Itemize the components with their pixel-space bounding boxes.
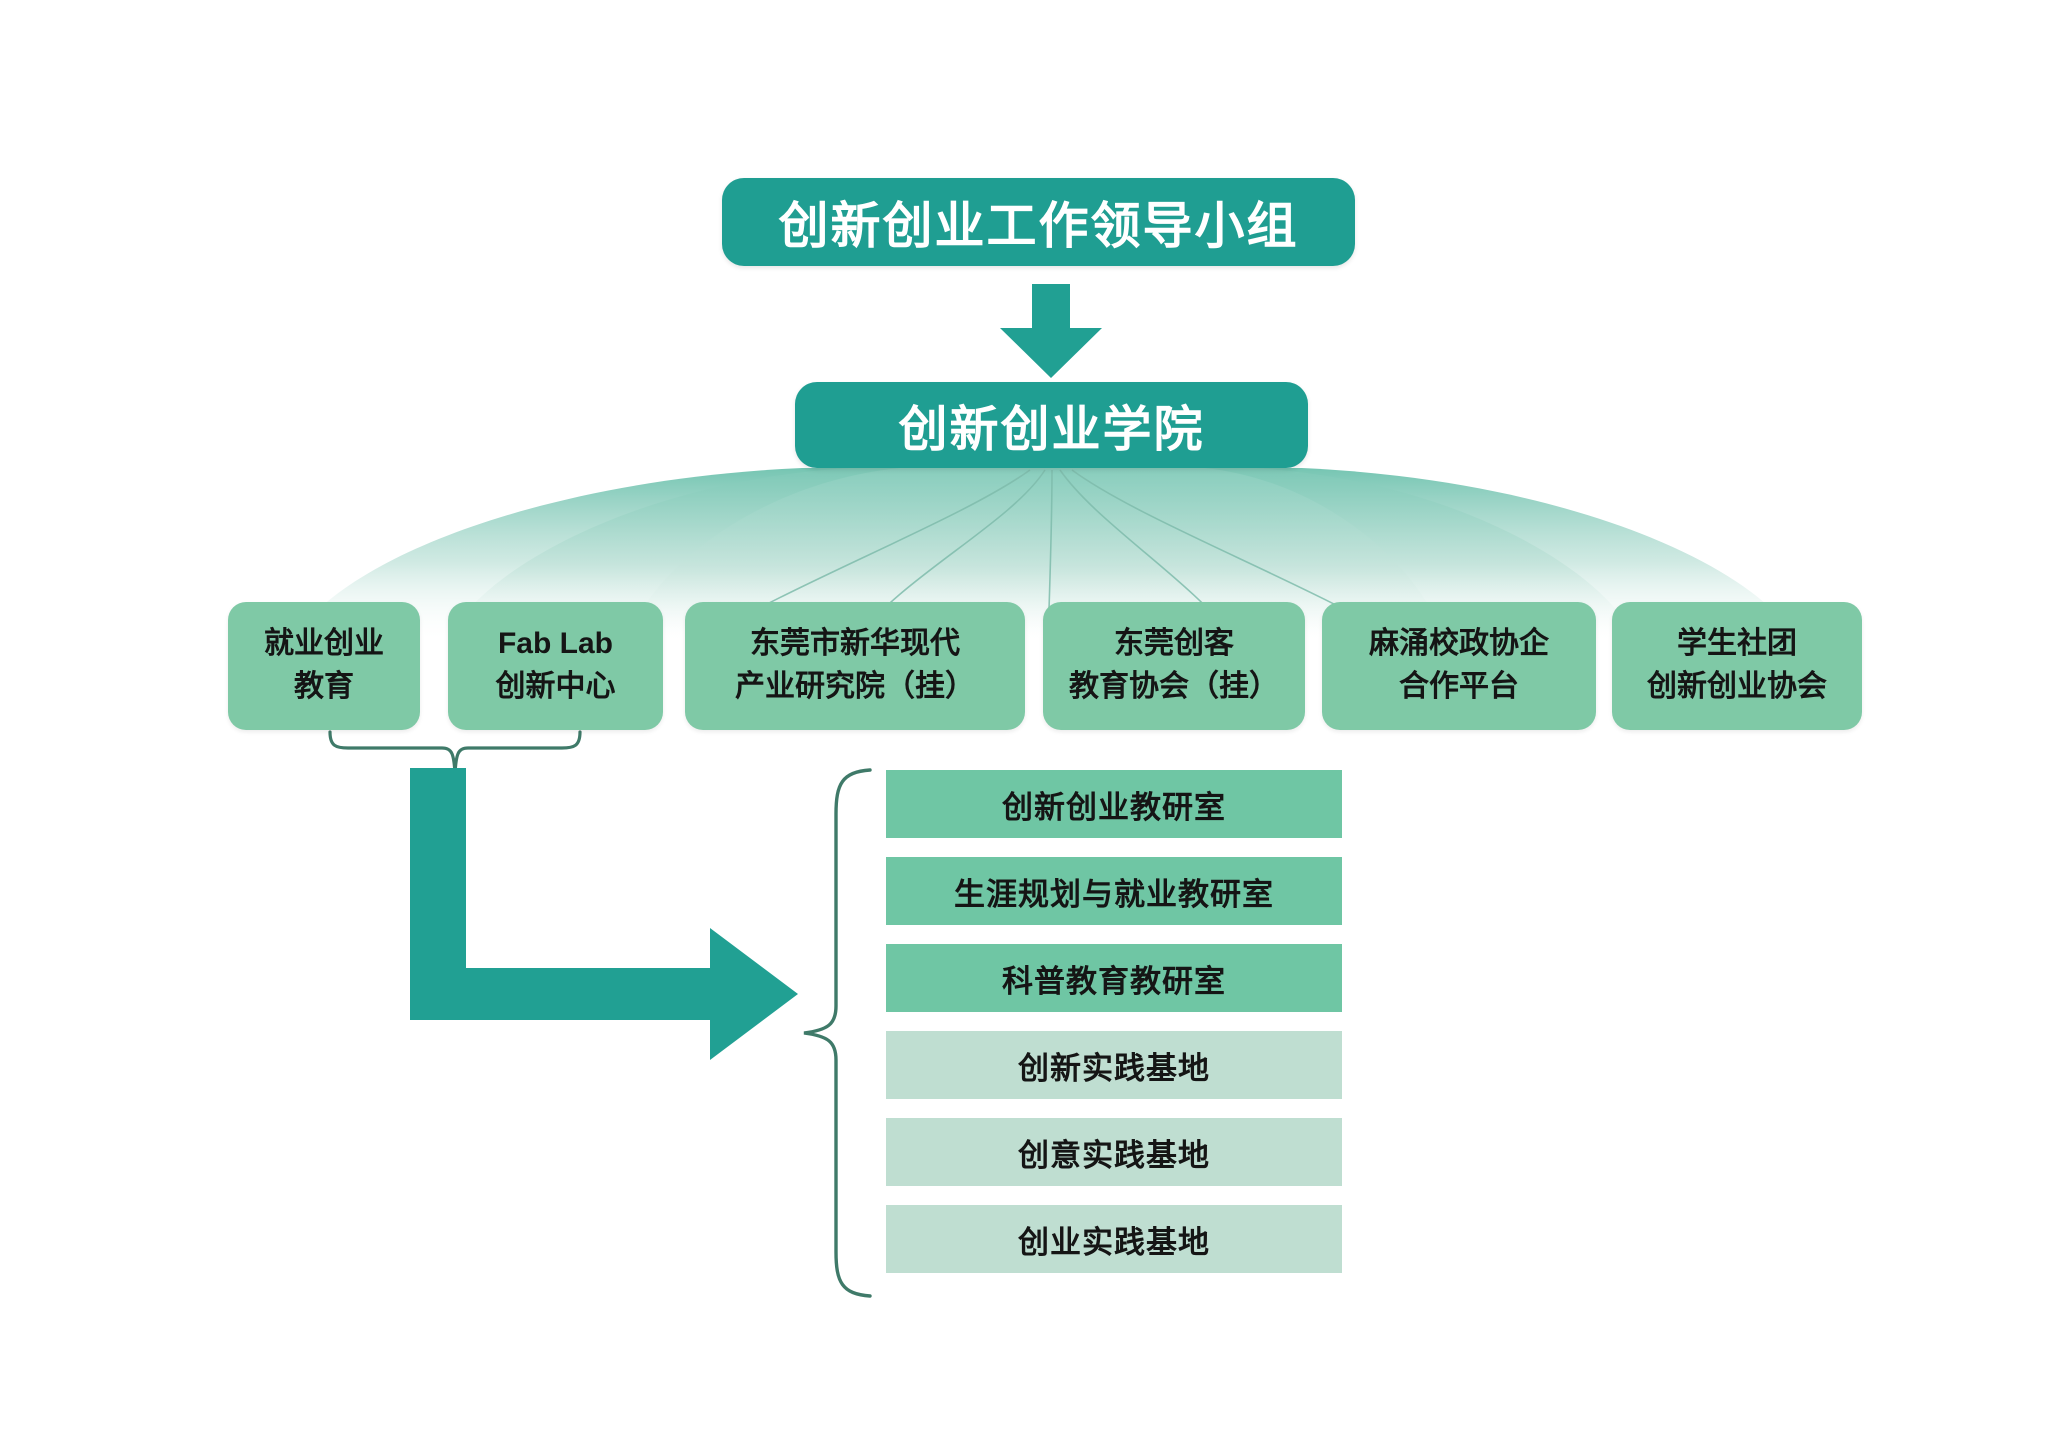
department-box-6[interactable]: 学生社团 创新创业协会 xyxy=(1612,602,1862,730)
department-box-5[interactable]: 麻涌校政协企 合作平台 xyxy=(1322,602,1596,730)
department-line: 东莞市新华现代 xyxy=(750,623,960,666)
department-line: Fab Lab xyxy=(498,623,613,666)
department-box-4[interactable]: 东莞创客 教育协会（挂） xyxy=(1043,602,1305,730)
department-box-3[interactable]: 东莞市新华现代 产业研究院（挂） xyxy=(685,602,1025,730)
unit-label: 科普教育教研室 xyxy=(1002,956,1226,1001)
unit-item[interactable]: 创新创业教研室 xyxy=(886,770,1342,838)
leader-group-label: 创新创业工作领导小组 xyxy=(779,186,1299,258)
department-line: 产业研究院（挂） xyxy=(735,666,975,709)
unit-label: 生涯规划与就业教研室 xyxy=(954,869,1274,914)
institute-label: 创新创业学院 xyxy=(898,390,1204,461)
unit-item[interactable]: 创业实践基地 xyxy=(886,1205,1342,1273)
department-line: 创新创业协会 xyxy=(1647,666,1827,709)
department-line: 学生社团 xyxy=(1677,623,1797,666)
department-box-1[interactable]: 就业创业 教育 xyxy=(228,602,420,730)
department-line: 合作平台 xyxy=(1399,666,1519,709)
unit-item[interactable]: 科普教育教研室 xyxy=(886,944,1342,1012)
department-row: 就业创业 教育 Fab Lab 创新中心 东莞市新华现代 产业研究院（挂） 东莞… xyxy=(0,602,2048,730)
department-line: 麻涌校政协企 xyxy=(1369,623,1549,666)
department-line: 就业创业 xyxy=(264,623,384,666)
unit-item[interactable]: 创新实践基地 xyxy=(886,1031,1342,1099)
unit-item[interactable]: 创意实践基地 xyxy=(886,1118,1342,1186)
department-line: 创新中心 xyxy=(496,666,616,709)
department-line: 东莞创客 xyxy=(1114,623,1234,666)
unit-label: 创意实践基地 xyxy=(1018,1130,1210,1175)
down-arrow-icon xyxy=(996,284,1106,380)
org-chart: 创新创业工作领导小组 创新创业学院 就业创业 教育 Fab Lab 创新中心 东… xyxy=(0,0,2048,1448)
curly-brace-icon xyxy=(800,768,874,1298)
unit-label: 创新实践基地 xyxy=(1018,1043,1210,1088)
unit-label: 创新创业教研室 xyxy=(1002,782,1226,827)
department-box-2[interactable]: Fab Lab 创新中心 xyxy=(448,602,663,730)
elbow-arrow-icon xyxy=(410,768,800,1078)
unit-label: 创业实践基地 xyxy=(1018,1217,1210,1262)
unit-list: 创新创业教研室 生涯规划与就业教研室 科普教育教研室 创新实践基地 创意实践基地… xyxy=(886,770,1342,1292)
department-line: 教育 xyxy=(294,666,354,709)
leader-group-box[interactable]: 创新创业工作领导小组 xyxy=(722,178,1355,266)
institute-box[interactable]: 创新创业学院 xyxy=(795,382,1308,468)
department-line: 教育协会（挂） xyxy=(1069,666,1279,709)
unit-item[interactable]: 生涯规划与就业教研室 xyxy=(886,857,1342,925)
